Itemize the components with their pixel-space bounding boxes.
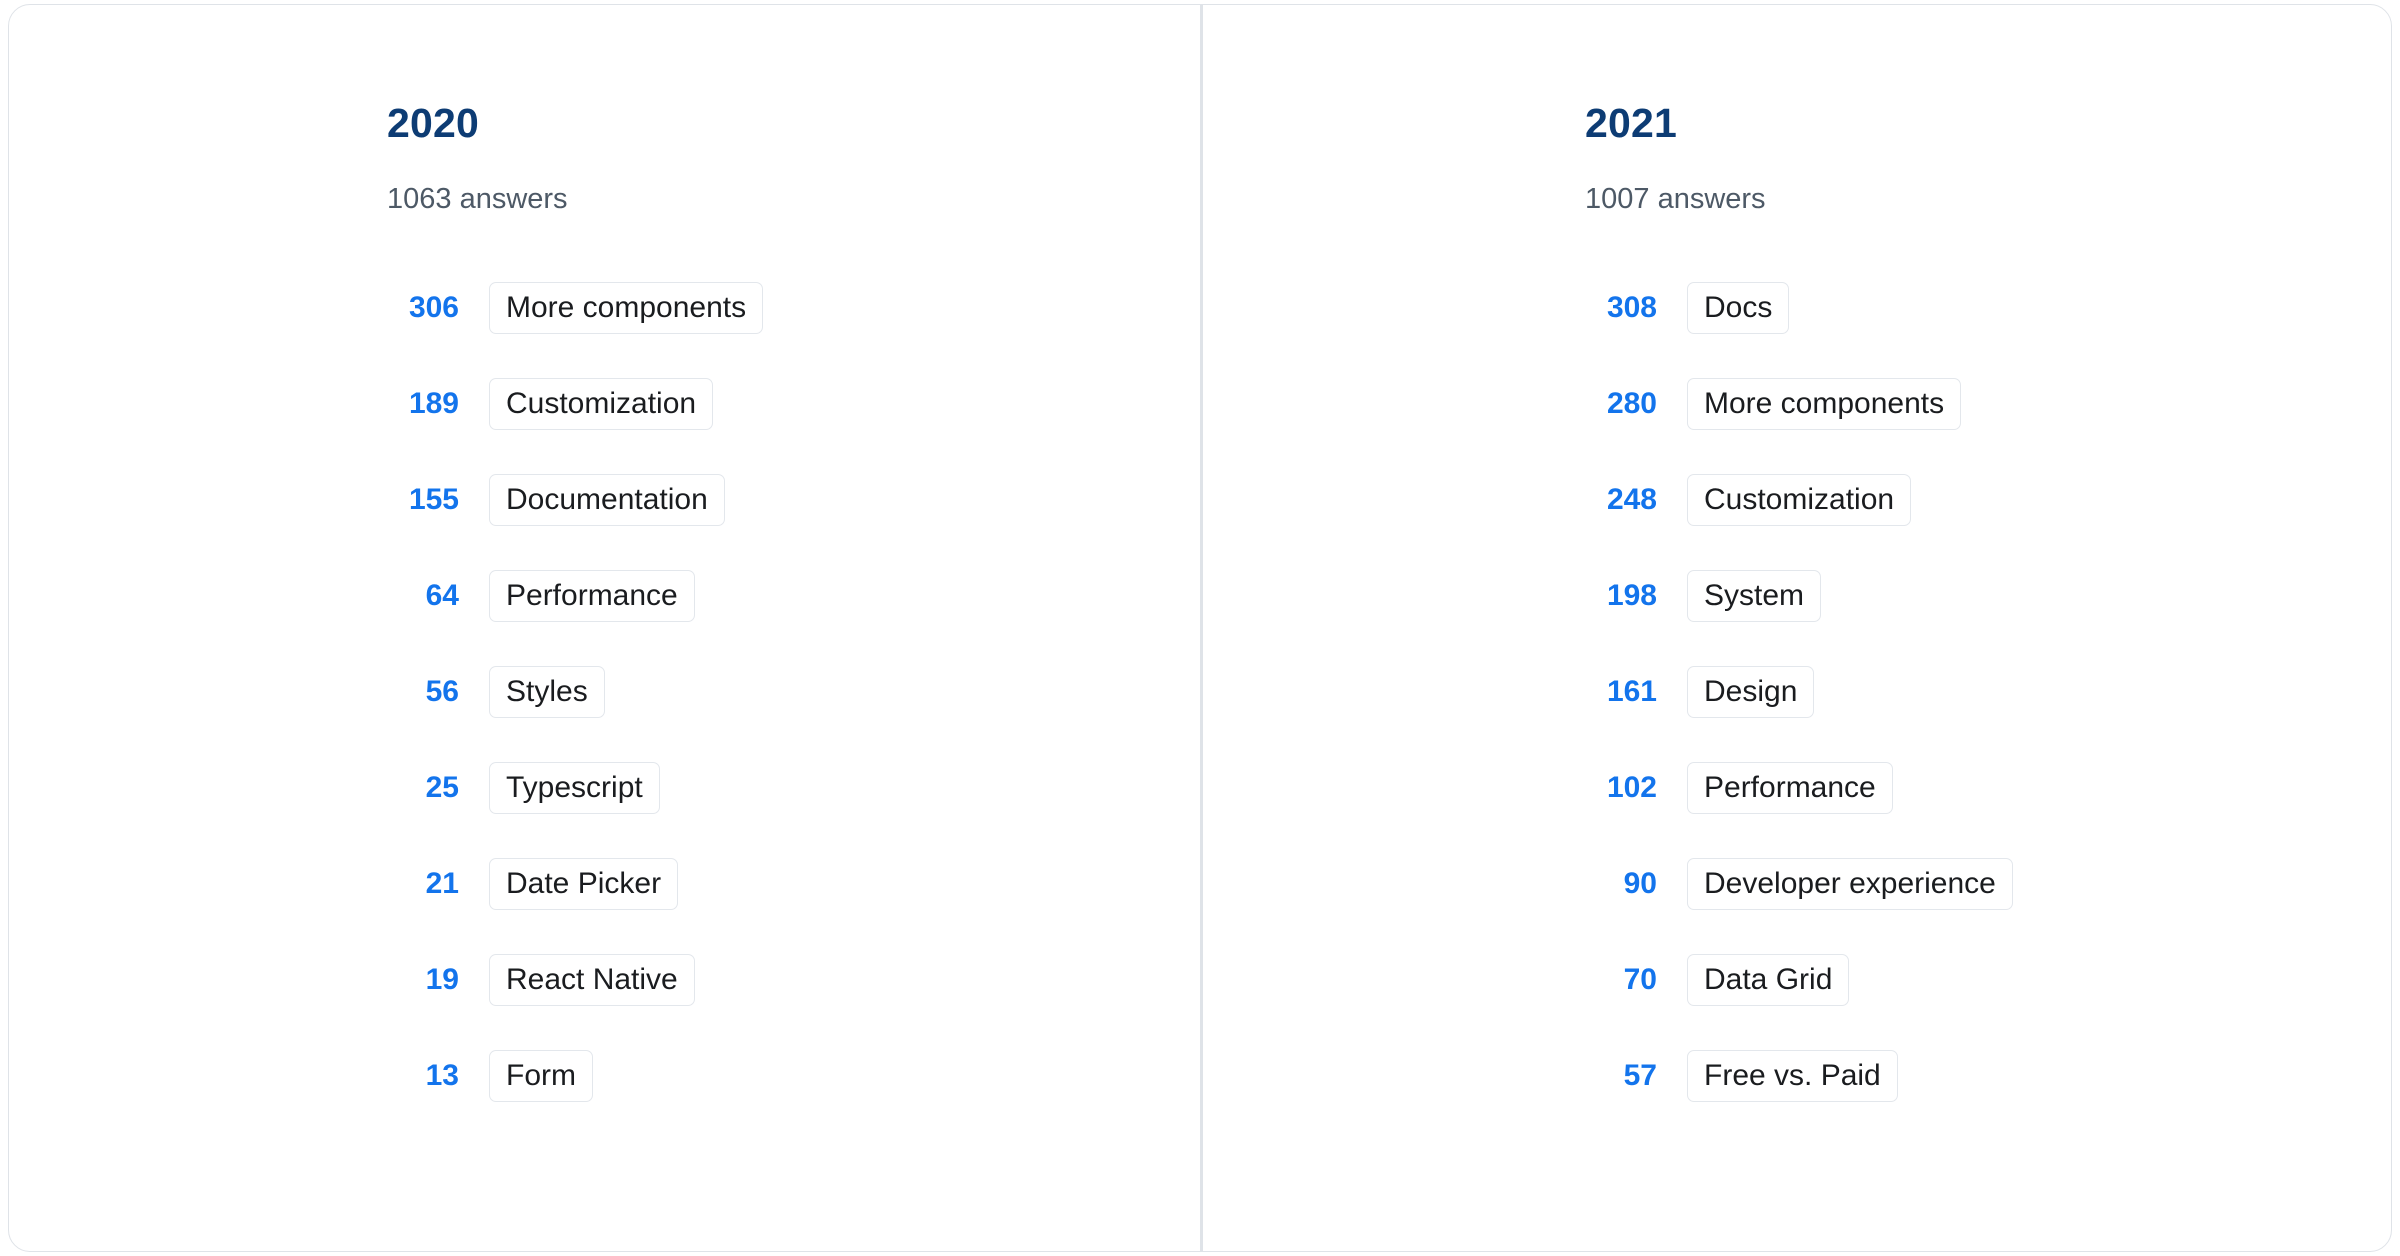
item-tag[interactable]: Performance (489, 570, 695, 622)
item-count: 280 (1585, 389, 1657, 419)
list-item[interactable]: 64 Performance (387, 548, 763, 644)
panel-2020-year: 2020 (387, 103, 763, 144)
item-count: 161 (1585, 677, 1657, 707)
list-item[interactable]: 248 Customization (1585, 452, 2013, 548)
list-item[interactable]: 155 Documentation (387, 452, 763, 548)
item-count: 56 (387, 677, 459, 707)
list-item[interactable]: 19 React Native (387, 932, 763, 1028)
comparison-card: 2020 1063 answers 306 More components 18… (8, 4, 2392, 1252)
item-count: 306 (387, 293, 459, 323)
panel-2021-content: 2021 1007 answers 308 Docs 280 More comp… (1585, 103, 2013, 1124)
item-tag[interactable]: Developer experience (1687, 858, 2013, 910)
item-tag[interactable]: Performance (1687, 762, 1893, 814)
item-count: 90 (1585, 869, 1657, 899)
item-count: 64 (387, 581, 459, 611)
list-item[interactable]: 189 Customization (387, 356, 763, 452)
item-tag[interactable]: Free vs. Paid (1687, 1050, 1898, 1102)
list-item[interactable]: 13 Form (387, 1028, 763, 1124)
list-item[interactable]: 280 More components (1585, 356, 2013, 452)
item-tag[interactable]: More components (489, 282, 763, 334)
panel-2020-answers-count: 1063 answers (387, 185, 763, 214)
list-item[interactable]: 102 Performance (1585, 740, 2013, 836)
item-count: 21 (387, 869, 459, 899)
item-tag[interactable]: Customization (489, 378, 713, 430)
panel-2020: 2020 1063 answers 306 More components 18… (9, 5, 1200, 1251)
item-count: 25 (387, 773, 459, 803)
list-item[interactable]: 161 Design (1585, 644, 2013, 740)
item-count: 102 (1585, 773, 1657, 803)
item-tag[interactable]: Styles (489, 666, 605, 718)
panel-2021-list: 308 Docs 280 More components 248 Customi… (1585, 260, 2013, 1124)
item-count: 19 (387, 965, 459, 995)
panel-2020-content: 2020 1063 answers 306 More components 18… (387, 103, 763, 1124)
list-item[interactable]: 198 System (1585, 548, 2013, 644)
list-item[interactable]: 70 Data Grid (1585, 932, 2013, 1028)
list-item[interactable]: 308 Docs (1585, 260, 2013, 356)
list-item[interactable]: 57 Free vs. Paid (1585, 1028, 2013, 1124)
item-count: 198 (1585, 581, 1657, 611)
panel-2021-answers-count: 1007 answers (1585, 185, 2013, 214)
item-tag[interactable]: Docs (1687, 282, 1789, 334)
item-count: 189 (387, 389, 459, 419)
list-item[interactable]: 90 Developer experience (1585, 836, 2013, 932)
panel-2021-year: 2021 (1585, 103, 2013, 144)
list-item[interactable]: 25 Typescript (387, 740, 763, 836)
item-tag[interactable]: More components (1687, 378, 1961, 430)
item-tag[interactable]: Date Picker (489, 858, 678, 910)
item-count: 248 (1585, 485, 1657, 515)
panel-2021: 2021 1007 answers 308 Docs 280 More comp… (1200, 5, 2391, 1251)
item-tag[interactable]: Documentation (489, 474, 725, 526)
list-item[interactable]: 56 Styles (387, 644, 763, 740)
item-count: 13 (387, 1061, 459, 1091)
item-tag[interactable]: Data Grid (1687, 954, 1849, 1006)
panel-2020-list: 306 More components 189 Customization 15… (387, 260, 763, 1124)
item-tag[interactable]: Typescript (489, 762, 660, 814)
item-count: 308 (1585, 293, 1657, 323)
list-item[interactable]: 21 Date Picker (387, 836, 763, 932)
list-item[interactable]: 306 More components (387, 260, 763, 356)
item-count: 57 (1585, 1061, 1657, 1091)
item-count: 155 (387, 485, 459, 515)
item-tag[interactable]: Customization (1687, 474, 1911, 526)
item-tag[interactable]: React Native (489, 954, 695, 1006)
item-tag[interactable]: Form (489, 1050, 593, 1102)
item-count: 70 (1585, 965, 1657, 995)
item-tag[interactable]: Design (1687, 666, 1814, 718)
item-tag[interactable]: System (1687, 570, 1821, 622)
